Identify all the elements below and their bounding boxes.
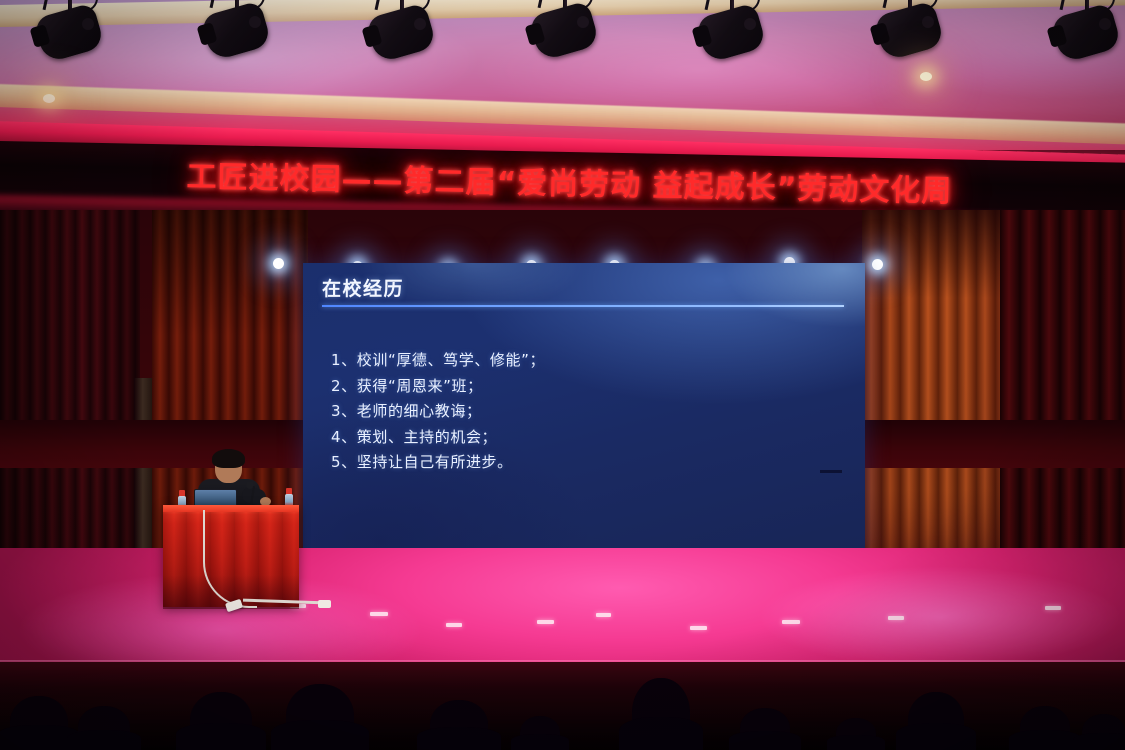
light-knob [249, 16, 261, 28]
audience-head-silhouette [190, 692, 252, 750]
slide-bullet-item: 2、获得“周恩来”班； [331, 374, 851, 400]
slide-bullet-item: 1、校训“厚德、笃学、修能”； [331, 348, 851, 374]
floor-tape-mark [888, 616, 904, 620]
spotlight-icon [872, 259, 883, 270]
audience-head-silhouette [1082, 714, 1125, 750]
ceiling-downlight-icon [43, 94, 55, 103]
floor-tape-mark [537, 620, 554, 624]
light-knob [577, 16, 589, 28]
floor-tape-mark [782, 620, 800, 624]
audience-head-silhouette [286, 684, 354, 750]
slide-bullet-item: 5、坚持让自己有所进步。 [331, 450, 851, 476]
audience-head-silhouette [1020, 706, 1070, 750]
light-knob [1099, 18, 1111, 30]
light-knob [744, 18, 756, 30]
auditorium-stage-photo: 工匠进校园——第二届“爱尚劳动 益起成长”劳动文化周 在校经历 1、校训“厚德、… [0, 0, 1125, 750]
ceiling-downlight-icon [920, 72, 932, 81]
slide-title: 在校经历 [322, 274, 404, 301]
audience-head-silhouette [836, 718, 876, 750]
audience-head-silhouette [520, 716, 560, 750]
audience-head-silhouette [10, 696, 68, 750]
audience-head-silhouette [740, 708, 790, 750]
slide-title-divider [322, 305, 844, 307]
presenter-hair [212, 449, 245, 468]
cable-plug-right [318, 600, 331, 608]
audience-head-silhouette [78, 706, 130, 750]
slide-bullet-item: 4、策划、主持的机会； [331, 425, 851, 451]
audience-head-silhouette [908, 692, 964, 750]
light-knob [82, 18, 94, 30]
screen-dark-mark [820, 470, 842, 473]
light-knob [414, 18, 426, 30]
audience-head-silhouette [430, 700, 488, 750]
light-knob [922, 16, 934, 28]
floor-tape-mark [370, 612, 388, 616]
slide-bullet-item: 3、老师的细心教诲； [331, 399, 851, 425]
audience-head-silhouette [632, 678, 690, 750]
floor-tape-mark [690, 626, 707, 630]
audience-foreground [0, 662, 1125, 750]
floor-tape-mark [446, 623, 462, 627]
spotlight-icon [273, 258, 284, 269]
slide-bullet-list: 1、校训“厚德、笃学、修能”；2、获得“周恩来”班；3、老师的细心教诲；4、策划… [331, 348, 851, 476]
slide: 在校经历 1、校训“厚德、笃学、修能”；2、获得“周恩来”班；3、老师的细心教诲… [303, 263, 865, 553]
floor-tape-mark [596, 613, 611, 617]
projection-screen: 在校经历 1、校训“厚德、笃学、修能”；2、获得“周恩来”班；3、老师的细心教诲… [303, 263, 865, 553]
floor-tape-mark [1045, 606, 1061, 610]
